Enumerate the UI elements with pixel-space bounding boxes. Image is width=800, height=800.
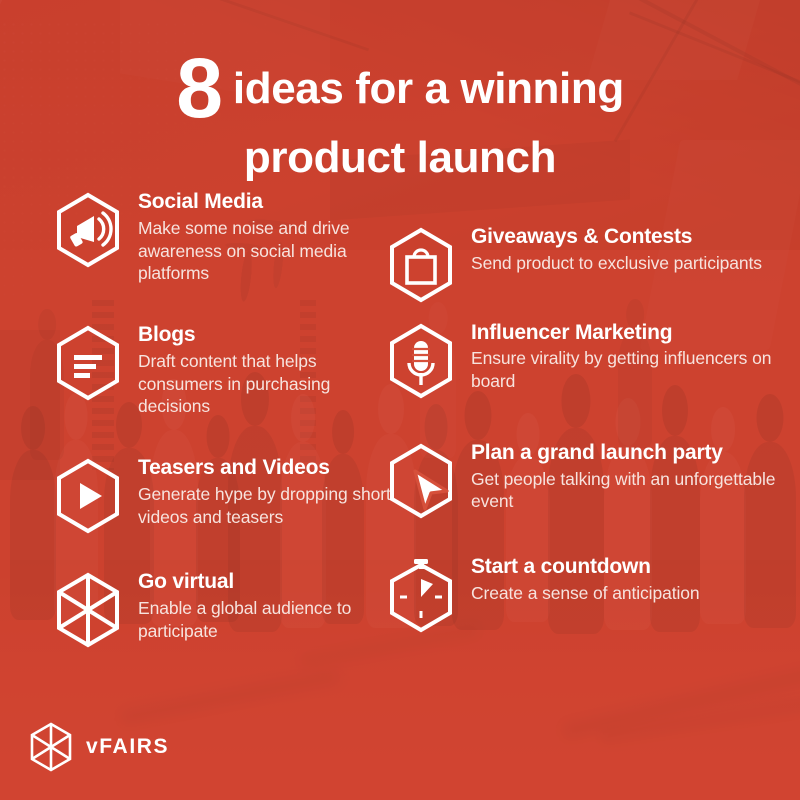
list-item[interactable]: Start a countdown Create a sense of anti…: [385, 555, 785, 605]
list-item[interactable]: Teasers and Videos Generate hype by drop…: [52, 456, 392, 528]
list-item[interactable]: Blogs Draft content that helps consumers…: [52, 323, 392, 418]
microphone-icon: [385, 323, 457, 399]
infographic-canvas: 8ideas for a winning product launch Soc: [0, 0, 800, 800]
list-item-text: Teasers and Videos Generate hype by drop…: [138, 456, 392, 528]
list-item-text: Social Media Make some noise and drive a…: [138, 190, 392, 285]
title-line-1: ideas for a winning: [233, 64, 624, 113]
list-item-title: Go virtual: [138, 570, 392, 595]
list-item-text: Influencer Marketing Ensure virality by …: [471, 321, 785, 393]
list-item-text: Blogs Draft content that helps consumers…: [138, 323, 392, 418]
vfairs-logo[interactable]: vFAIRS: [28, 722, 169, 772]
hexagon-cube-icon: [52, 572, 124, 648]
vfairs-logo-text: vFAIRS: [86, 735, 169, 759]
list-item-desc: Ensure virality by getting influencers o…: [471, 347, 785, 393]
list-item-desc: Draft content that helps consumers in pu…: [138, 350, 392, 418]
vfairs-hexagon-logo-icon: [28, 722, 74, 772]
list-item-desc: Get people talking with an unforgettable…: [471, 468, 785, 514]
list-item-text: Giveaways & Contests Send product to exc…: [471, 225, 785, 275]
shopping-bag-icon: [385, 227, 457, 303]
list-item-desc: Send product to exclusive participants: [471, 252, 785, 275]
list-item-title: Start a countdown: [471, 555, 785, 580]
list-item-text: Go virtual Enable a global audience to p…: [138, 570, 392, 642]
list-item[interactable]: Social Media Make some noise and drive a…: [52, 190, 392, 285]
list-item-title: Social Media: [138, 190, 392, 215]
list-item-title: Blogs: [138, 323, 392, 348]
cursor-arrow-icon: [385, 443, 457, 519]
stopwatch-icon: [385, 557, 457, 633]
list-item[interactable]: Influencer Marketing Ensure virality by …: [385, 321, 785, 393]
list-item-desc: Enable a global audience to participate: [138, 597, 392, 643]
list-item-title: Influencer Marketing: [471, 321, 785, 346]
title-number: 8: [176, 41, 221, 135]
list-item-text: Start a countdown Create a sense of anti…: [471, 555, 785, 605]
document-lines-icon: [52, 325, 124, 401]
title-line-2: product launch: [0, 136, 800, 180]
list-item-title: Giveaways & Contests: [471, 225, 785, 250]
list-item-title: Plan a grand launch party: [471, 441, 785, 466]
list-item[interactable]: Giveaways & Contests Send product to exc…: [385, 225, 785, 275]
megaphone-icon: [52, 192, 124, 268]
list-item-text: Plan a grand launch party Get people tal…: [471, 441, 785, 513]
list-item-title: Teasers and Videos: [138, 456, 392, 481]
list-item-desc: Generate hype by dropping short videos a…: [138, 483, 392, 529]
content-layer: 8ideas for a winning product launch Soc: [0, 0, 800, 800]
left-column: Social Media Make some noise and drive a…: [52, 190, 392, 667]
play-button-icon: [52, 458, 124, 534]
list-item-desc: Make some noise and drive awareness on s…: [138, 217, 392, 285]
list-item[interactable]: Plan a grand launch party Get people tal…: [385, 441, 785, 513]
right-column: Giveaways & Contests Send product to exc…: [385, 225, 785, 629]
page-title: 8ideas for a winning product launch: [0, 46, 800, 180]
list-item[interactable]: Go virtual Enable a global audience to p…: [52, 570, 392, 642]
list-item-desc: Create a sense of anticipation: [471, 582, 785, 605]
